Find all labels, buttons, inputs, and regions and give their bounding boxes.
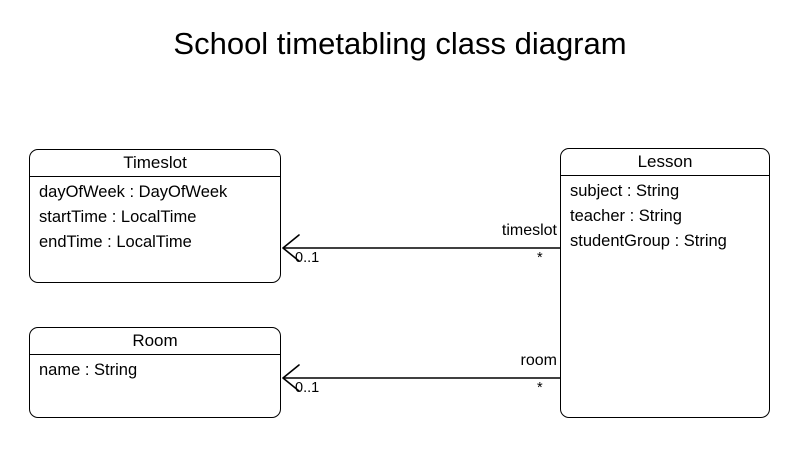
attribute-row: teacher : String <box>570 204 769 229</box>
attribute-row: startTime : LocalTime <box>39 205 280 230</box>
association-multiplicity-target-timeslot: 0..1 <box>295 250 319 266</box>
association-multiplicity-source-room: * <box>537 380 543 396</box>
association-multiplicity-target-room: 0..1 <box>295 380 319 396</box>
attribute-list-lesson: subject : String teacher : String studen… <box>561 176 769 254</box>
class-box-timeslot[interactable]: Timeslot dayOfWeek : DayOfWeek startTime… <box>29 149 281 283</box>
class-name-timeslot: Timeslot <box>30 150 280 177</box>
attribute-row: endTime : LocalTime <box>39 230 280 255</box>
attribute-row: dayOfWeek : DayOfWeek <box>39 180 280 205</box>
class-box-lesson[interactable]: Lesson subject : String teacher : String… <box>560 148 770 418</box>
attribute-list-room: name : String <box>30 355 280 383</box>
association-role-label-timeslot: timeslot <box>357 222 557 240</box>
class-name-lesson: Lesson <box>561 149 769 176</box>
attribute-row: studentGroup : String <box>570 229 769 254</box>
attribute-row: subject : String <box>570 179 769 204</box>
diagram-canvas: School timetabling class diagram Timeslo… <box>0 0 800 450</box>
attribute-row: name : String <box>39 358 280 383</box>
attribute-list-timeslot: dayOfWeek : DayOfWeek startTime : LocalT… <box>30 177 280 255</box>
class-name-room: Room <box>30 328 280 355</box>
page-title: School timetabling class diagram <box>0 26 800 62</box>
class-box-room[interactable]: Room name : String <box>29 327 281 418</box>
association-multiplicity-source-timeslot: * <box>537 250 543 266</box>
association-role-label-room: room <box>357 352 557 370</box>
